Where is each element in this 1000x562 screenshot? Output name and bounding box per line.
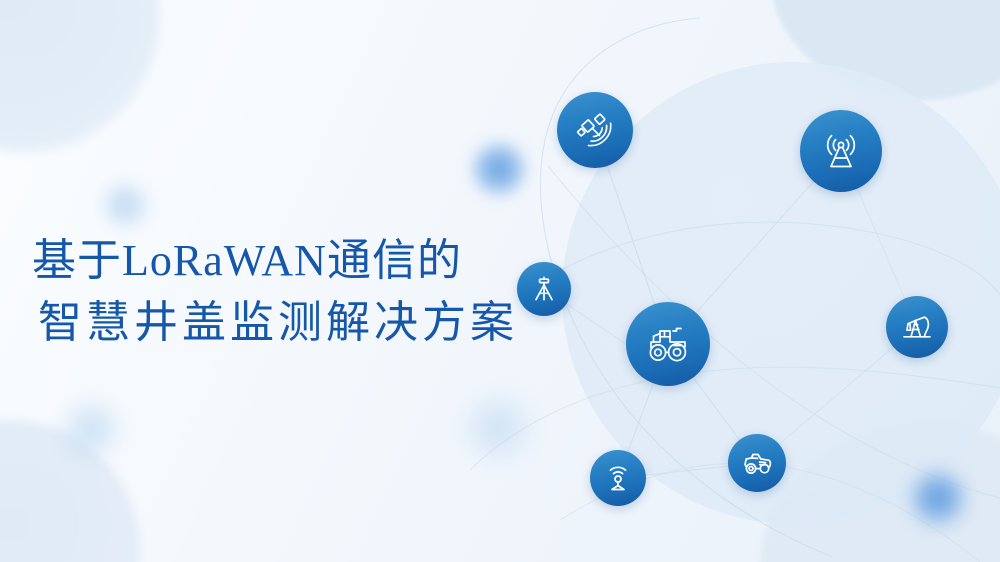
slide-title: 基于LoRaWAN通信的 智慧井盖监测解决方案	[32, 230, 552, 354]
wireless-sensor-icon	[602, 462, 634, 494]
broadcast-tower-icon	[818, 128, 864, 174]
node-oil-pumpjack	[886, 296, 948, 358]
node-broadcast-tower	[800, 110, 882, 192]
satellite-dish-icon	[574, 109, 616, 151]
blob-bottom-left-decoration	[0, 420, 140, 562]
tractor-icon	[643, 319, 693, 369]
node-satellite	[557, 92, 633, 168]
node-utility-vehicle	[728, 434, 786, 492]
title-line-secondary: 智慧井盖监测解决方案	[32, 292, 552, 354]
node-tractor	[626, 302, 710, 386]
node-wireless-sensor	[590, 450, 646, 506]
accent-dot-lower-decoration	[60, 398, 122, 460]
oil-pumpjack-icon	[899, 309, 935, 345]
accent-dot-center-decoration	[462, 392, 534, 464]
accent-dot-left-decoration	[100, 180, 150, 230]
accent-dot-top-decoration	[470, 140, 528, 198]
blob-top-left-decoration	[0, 0, 160, 152]
title-line-primary: 基于LoRaWAN通信的	[32, 230, 552, 292]
utility-vehicle-icon	[740, 446, 774, 480]
slide-canvas: 基于LoRaWAN通信的 智慧井盖监测解决方案	[0, 0, 1000, 562]
